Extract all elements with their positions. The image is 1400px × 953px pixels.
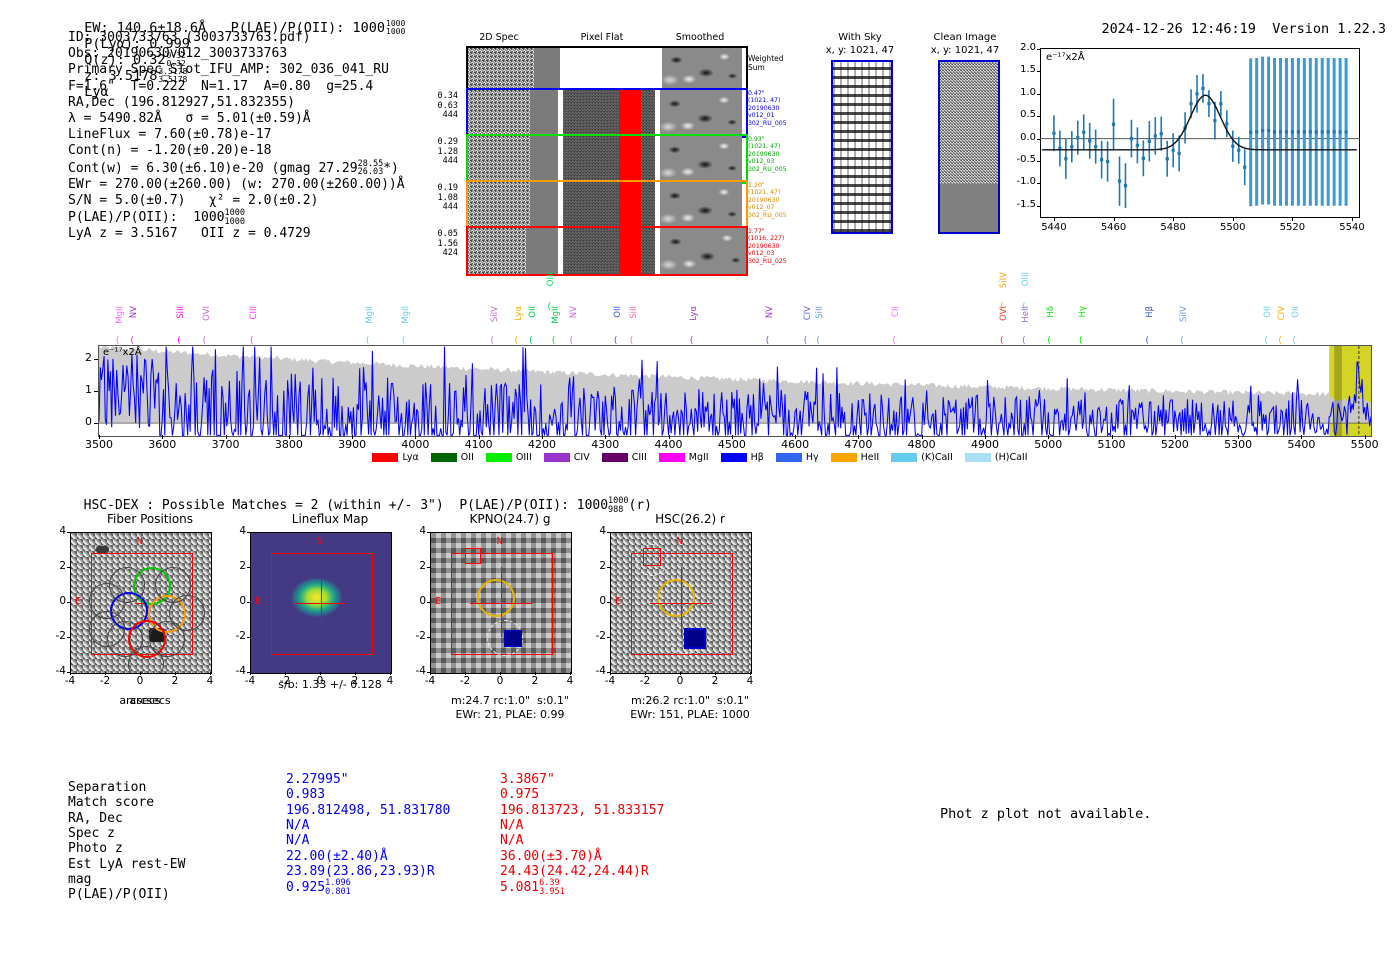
lineflux-ytick: 2.0 — [988, 42, 1036, 53]
legend-item-KCaII: (K)CaII — [891, 452, 953, 463]
info-radec: RA,Dec (196.812927,51.832355) — [68, 95, 405, 111]
lineflux-xtick: 5500 — [1211, 222, 1255, 233]
spectrum-xtick: 4300 — [579, 438, 631, 451]
hsc-match-box-2 — [643, 548, 660, 565]
match-col1-plae-bounds: 1.0960.801 — [325, 879, 351, 896]
legend-swatch — [431, 453, 457, 462]
spectrum-xtick: 4200 — [516, 438, 568, 451]
legend-label: HeII — [861, 452, 880, 463]
compass-north: N — [137, 536, 143, 547]
match-table-label-5: Est LyA rest-EW — [68, 857, 185, 872]
match-table-label-1: Match score — [68, 795, 154, 810]
emission-line-brace: ( — [116, 336, 120, 346]
hsc-caption-2: EWr: 151, PLAE: 1000 — [592, 708, 788, 721]
emission-line-label-MgII: MgII — [401, 306, 411, 324]
legend-item-HeII: HeII — [831, 452, 880, 463]
panel-kpno-g: KPNO(24.7) g N E m:24.7 rc:1.0" s:0.1" E… — [420, 512, 600, 722]
emission-line-brace: ( — [630, 336, 634, 346]
emission-line-brace: ( — [250, 336, 254, 346]
panel-lineflux-map: Lineflux Map N E s/b: 1.33 +/- 0.128 — [240, 512, 420, 722]
cutout-3-xtick: 0 — [666, 675, 694, 687]
emission-line-label-OII: OII — [613, 306, 623, 318]
legend-label: OII — [461, 452, 474, 463]
fiber-row-1-right-labels: 0.93" (1021, 47) 20190630 v012_03 302_RU… — [748, 136, 787, 173]
cutout-1-ytick: 2 — [224, 560, 246, 572]
cutout-2-ytick: 2 — [404, 560, 426, 572]
emission-line-brace: ( — [892, 336, 896, 346]
spectrum-xtick: 4900 — [959, 438, 1011, 451]
spectrum-annotation: e⁻¹⁷x2Å — [103, 347, 142, 358]
emission-line-label-MgII: MgII — [551, 306, 561, 324]
lineflux-fit-plot: e⁻¹⁷x2Å — [1040, 48, 1360, 218]
legend-item-Ly: Lyα — [372, 452, 418, 463]
info-redshifts: LyA z = 3.5167 OII z = 0.4729 — [68, 226, 405, 242]
kpno-caption-2: EWr: 21, PLAE: 0.99 — [412, 708, 608, 721]
info-continuum-wide: Cont(w) = 6.30(±6.10)e-20 (gmag 27.2928.… — [68, 160, 405, 177]
emission-line-label-NV: NV — [129, 306, 139, 318]
info-sn-chi2: S/N = 5.0(±0.7) χ² = 2.0(±0.2) — [68, 193, 405, 209]
gmag-bounds: 28.5526.03 — [358, 160, 384, 177]
match-table-col2-value-2: 196.813723, 51.833157 — [500, 803, 664, 818]
cutout-0-ytick: 2 — [44, 560, 66, 572]
cutout-2-xtick: 4 — [556, 675, 584, 687]
photz-note: Phot z plot not available. — [940, 806, 1151, 822]
cutout-0-xtick: 4 — [196, 675, 224, 687]
emission-line-label-OII: OII — [528, 306, 538, 318]
legend-item-OIII: OIII — [486, 452, 532, 463]
fiber-row-1-left-labels: 0.291.28444 — [420, 138, 458, 167]
fiber-row-2-right-labels: 1.20" (1021, 47) 20190630 v012_07 302_RU… — [748, 182, 787, 219]
cutout-2-xtick: -2 — [451, 675, 479, 687]
cutout-1-ytick: 4 — [224, 525, 246, 537]
cutout-2-xtick: 0 — [486, 675, 514, 687]
lineflux-ytick: 0.5 — [988, 109, 1036, 120]
lineflux-xtick: 5440 — [1032, 222, 1076, 233]
emission-line-brace: ( — [1079, 336, 1083, 346]
cutout-1-xtick: 4 — [376, 675, 404, 687]
legend-item-CIII: CIII — [602, 452, 647, 463]
emission-line-label-MgII: MgII — [115, 306, 125, 324]
emission-line-label-CIII: CIII — [249, 306, 259, 319]
column-header-2dspec: 2D Spec — [446, 32, 552, 43]
lineflux-plot-svg — [1040, 48, 1360, 218]
info-slot: Primary Spec_Slot_IFU_AMP: 302_036_041_R… — [68, 62, 405, 78]
spectrum-xtick: 3500 — [73, 438, 125, 451]
cutout-1-ytick: -2 — [224, 630, 246, 642]
cutout-3-ytick: 2 — [584, 560, 606, 572]
emission-line-label-CIV: CIV — [1277, 306, 1287, 320]
lineflux-ytick: -1.0 — [988, 176, 1036, 187]
lineflux-ytick: -1.5 — [988, 199, 1036, 210]
cutout-0-ytick: -2 — [44, 630, 66, 642]
emission-line-brace: ( — [816, 336, 820, 346]
emission-line-brace: ( — [570, 336, 574, 346]
lineflux-xtick: 5540 — [1330, 222, 1374, 233]
cutout-0-ytick: -4 — [44, 665, 66, 677]
emission-line-label-NV: NV — [569, 306, 579, 318]
match-table-col1-value-3: N/A — [286, 818, 309, 833]
emission-line-brace: ( — [1292, 336, 1296, 346]
legend-label: Hβ — [751, 452, 764, 463]
full-spectrum-svg — [99, 346, 1371, 436]
emission-line-brace: ( — [766, 336, 770, 346]
match-table-label-7: P(LAE)/P(OII) — [68, 887, 170, 902]
cutout-3-ytick: 0 — [584, 595, 606, 607]
legend-swatch — [965, 453, 991, 462]
spectrum-xtick: 5400 — [1275, 438, 1327, 451]
cutout-1-ytick: -4 — [224, 665, 246, 677]
cutout-3-ytick: 4 — [584, 525, 606, 537]
emission-line-label-H: Hγ — [1078, 306, 1088, 317]
legend-swatch — [659, 453, 685, 462]
cutout-3-xtick: -2 — [631, 675, 659, 687]
cutout-1-ytick: 0 — [224, 595, 246, 607]
emission-line-brace: ( — [177, 336, 181, 346]
legend-label: Lyα — [402, 452, 418, 463]
emission-line-brace: ( — [1278, 336, 1282, 346]
emission-line-label-SiII: SiII — [176, 306, 186, 319]
legend-item-CIV: CIV — [544, 452, 590, 463]
spectrum-xtick: 4600 — [769, 438, 821, 451]
emission-line-brace: ( — [690, 336, 694, 346]
legend-swatch — [372, 453, 398, 462]
cutout-3-ytick: -2 — [584, 630, 606, 642]
info-lambda-sigma: λ = 5490.82Å σ = 5.01(±0.59)Å — [68, 111, 405, 127]
match-table-col2-value-4: N/A — [500, 833, 523, 848]
legend-label: CIII — [632, 452, 647, 463]
emission-line-label-SiII: SiII — [815, 306, 825, 319]
lineflux-ytick: 0.0 — [988, 132, 1036, 143]
info-ewr: EWr = 270.00(±260.00) (w: 270.00(±260.00… — [68, 177, 405, 193]
cutout-1-xtick: 0 — [306, 675, 334, 687]
fiber-row-3-right-labels: 1.77" (1016, 227) 20190630 v012_03 302_R… — [748, 228, 787, 265]
fiber-row-2-strip — [466, 180, 748, 230]
spectrum-xtick: 5100 — [1086, 438, 1138, 451]
legend-label: (K)CaII — [921, 452, 953, 463]
compass-north: N — [677, 536, 683, 547]
spectrum-xtick: 4500 — [706, 438, 758, 451]
cutout-2-ytick: -2 — [404, 630, 426, 642]
emission-line-brace: ( — [515, 336, 519, 346]
fiber-row-0-strip — [466, 88, 748, 138]
spectrum-xtick: 3800 — [263, 438, 315, 451]
match-table-col2-value-6: 24.43(24.42,24.44)R — [500, 864, 649, 879]
info-params: F=1.6" T=0.222 N=1.17 A=0.80 g=25.4 — [68, 79, 405, 95]
cutout-0-xtick: -2 — [91, 675, 119, 687]
legend-swatch — [486, 453, 512, 462]
match-table-label-4: Photo z — [68, 841, 123, 856]
emission-line-brace: ( — [529, 336, 533, 346]
weighted-sum-strip — [466, 46, 748, 90]
emission-line-label-SiIV: SiIV — [1179, 306, 1189, 322]
panel-hsc-r: HSC(26.2) r N E m:26.2 rc:1.0" s:0.1" EW… — [600, 512, 780, 722]
detection-info-block: ID: 3003733763 (3003733763.pdf) Obs: 201… — [68, 30, 405, 243]
emission-line-brace: ( — [1000, 302, 1004, 312]
legend-item-OII: OII — [431, 452, 474, 463]
info-plae-bounds: 10001000 — [225, 209, 245, 226]
match-table-label-0: Separation — [68, 780, 146, 795]
spectrum-xtick: 4100 — [453, 438, 505, 451]
column-header-smoothed: Smoothed — [652, 32, 748, 43]
compass-east: E — [435, 596, 441, 607]
emission-line-brace: ( — [614, 336, 618, 346]
emission-line-brace: ( — [804, 336, 808, 346]
kpno-image: N E — [430, 532, 572, 674]
spectrum-xtick: 4800 — [896, 438, 948, 451]
cutout-3-ytick: -4 — [584, 665, 606, 677]
info-plae: P(LAE)/P(OII): 100010001000 — [68, 209, 405, 226]
match-table-label-2: RA, Dec — [68, 811, 123, 826]
emission-line-label-OIII: OIII — [1021, 272, 1031, 286]
lineflux-xtick: 5460 — [1092, 222, 1136, 233]
match-table-col2-value-5: 36.00(±3.70)Å — [500, 849, 602, 864]
legend-item-HCaII: (H)CaII — [965, 452, 1028, 463]
match-table-label-3: Spec z — [68, 826, 115, 841]
legend-swatch — [776, 453, 802, 462]
fiber-positions-axis-label: arcsecs — [60, 694, 220, 707]
spectrum-ytick: 2 — [62, 351, 92, 364]
fiber-positions-title: Fiber Positions — [60, 512, 240, 526]
spectrum-xtick: 3600 — [136, 438, 188, 451]
emission-line-label-CIV: CIV — [803, 306, 813, 320]
match-table-col2-value-0: 3.3867" — [500, 772, 555, 787]
cutout-3-xtick: 4 — [736, 675, 764, 687]
match-table-col1-value-4: N/A — [286, 833, 309, 848]
emission-line-label-SiII: SiII — [629, 306, 639, 319]
timestamp: 2024-12-26 12:46:19 — [1102, 21, 1256, 37]
full-spectrum-plot: e⁻¹⁷x2Å — [98, 345, 1372, 437]
fiber-row-1-strip — [466, 134, 748, 184]
column-header-pixelflat: Pixel Flat — [552, 32, 652, 43]
spectrum-xtick: 4700 — [832, 438, 884, 451]
cutout-0-ytick: 0 — [44, 595, 66, 607]
emission-line-label-Ly: Lyα — [514, 306, 524, 321]
lineflux-ytick: 1.0 — [988, 87, 1036, 98]
spectrum-xtick: 3700 — [200, 438, 252, 451]
version: Version 1.22.3 — [1272, 21, 1386, 37]
emission-line-label-MgII: MgII — [365, 306, 375, 324]
legend-swatch — [602, 453, 628, 462]
kpno-match-box-1 — [504, 630, 522, 647]
info-continuum-narrow: Cont(n) = -1.20(±0.20)e-18 — [68, 143, 405, 159]
match-table-col1-value-7: 0.9251.0960.801 — [286, 879, 351, 896]
lineflux-ytick: 1.5 — [988, 64, 1036, 75]
cutout-0-xtick: 2 — [161, 675, 189, 687]
emission-line-brace: ( — [1047, 336, 1051, 346]
kpno-caption-1: m:24.7 rc:1.0" s:0.1" — [412, 694, 608, 707]
emission-line-brace: ( — [402, 336, 406, 346]
emission-line-label-OII: OII — [1263, 306, 1273, 318]
legend-swatch — [891, 453, 917, 462]
match-table-col2-value-7: 5.0816.393.951 — [500, 879, 565, 896]
match-table-label-6: mag — [68, 872, 91, 887]
emission-line-brace: ( — [547, 302, 551, 312]
legend-label: MgII — [689, 452, 709, 463]
emission-line-label-CII: CII — [891, 306, 901, 317]
legend-item-MgII: MgII — [659, 452, 709, 463]
compass-north: N — [317, 536, 323, 547]
spectrum-xtick: 5000 — [1022, 438, 1074, 451]
cutout-0-ytick: 4 — [44, 525, 66, 537]
fiber-row-0-left-labels: 0.340.63444 — [420, 92, 458, 121]
emission-line-brace: ( — [1180, 336, 1184, 346]
spectrum-legend: LyαOIIOIIICIVCIIIMgIIHβHγHeII(K)CaII(H)C… — [0, 452, 1400, 463]
match-table-col1-value-2: 196.812498, 51.831780 — [286, 803, 450, 818]
spectrum-xtick: 3900 — [326, 438, 378, 451]
emission-line-label-H: Hβ — [1145, 306, 1155, 318]
match-col2-plae-bounds: 6.393.951 — [539, 879, 565, 896]
legend-label: OIII — [516, 452, 532, 463]
emission-line-brace: ( — [366, 336, 370, 346]
cutout-0-xtick: 0 — [126, 675, 154, 687]
fiber-row-3-left-labels: 0.051.56424 — [420, 230, 458, 259]
match-table-col2-value-3: N/A — [500, 818, 523, 833]
weighted-sum-label: Weighted Sum — [748, 54, 784, 72]
emission-line-brace: ( — [491, 336, 495, 346]
compass-north: N — [497, 536, 503, 547]
fiber-positions-image: N E — [70, 532, 212, 674]
compass-east: E — [75, 596, 81, 607]
panel-fiber-positions: Fiber Positions N E arcsecs — [60, 512, 240, 722]
emission-line-label-OVI: OVI — [202, 306, 212, 321]
spectrum-xtick: 5200 — [1149, 438, 1201, 451]
match-table-col1-value-0: 2.27995" — [286, 772, 349, 787]
spectrum-ytick: 1 — [62, 383, 92, 396]
emission-line-brace: ( — [1000, 336, 1004, 346]
spec2d-panel: 2D Spec Pixel Flat Smoothed Weighted Sum… — [430, 32, 770, 267]
emission-line-label-H: Hδ — [1046, 306, 1056, 318]
emission-line-brace: ( — [1022, 302, 1026, 312]
hsc-match-box-1 — [684, 628, 706, 649]
with-sky-image — [831, 60, 893, 234]
legend-item-H: Hβ — [721, 452, 764, 463]
match-table-col1-value-6: 23.89(23.86,23.93)R — [286, 864, 435, 879]
lineflux-ytick: -0.5 — [988, 154, 1036, 165]
cutout-2-ytick: -4 — [404, 665, 426, 677]
emission-line-brace: ( — [1264, 336, 1268, 346]
cutout-3-xtick: 2 — [701, 675, 729, 687]
legend-swatch — [721, 453, 747, 462]
compass-east: E — [255, 596, 261, 607]
spectrum-xtick: 5500 — [1339, 438, 1391, 451]
hsc-image: N E — [610, 532, 752, 674]
cutout-2-xtick: 2 — [521, 675, 549, 687]
header-timestamp-version: 2024-12-26 12:46:19 Version 1.22.3 — [1085, 5, 1386, 37]
emission-line-brace: ( — [203, 336, 207, 346]
emission-line-label-SiIV: SiIV — [490, 306, 500, 322]
legend-label: CIV — [574, 452, 590, 463]
emission-line-label-SiIV: SiIV — [999, 272, 1009, 288]
emission-line-label-OII: OII — [1291, 306, 1301, 318]
emission-line-brace: ( — [552, 336, 556, 346]
lineflux-xtick: 5520 — [1270, 222, 1314, 233]
with-sky-subtitle: x, y: 1021, 47 — [800, 45, 920, 56]
spectrum-ytick: 0 — [62, 415, 92, 428]
cutout-2-ytick: 0 — [404, 595, 426, 607]
kpno-match-box-2 — [465, 548, 481, 564]
legend-swatch — [544, 453, 570, 462]
with-sky-title: With Sky — [800, 32, 920, 43]
legend-label: Hγ — [806, 452, 819, 463]
match-table-col2-value-1: 0.975 — [500, 787, 539, 802]
info-id: ID: 3003733763 (3003733763.pdf) — [68, 30, 405, 46]
cutout-1-xtick: 2 — [341, 675, 369, 687]
hscdex-headline: HSC-DEX : Possible Matches = 2 (within +… — [68, 482, 652, 514]
spectrum-xtick: 4000 — [389, 438, 441, 451]
emission-line-label-OIII: OIII — [546, 272, 556, 286]
spectrum-xtick: 4400 — [643, 438, 695, 451]
lineflux-map-title: Lineflux Map — [240, 512, 420, 526]
fiber-row-3-strip — [466, 226, 748, 276]
spectrum-xtick: 5300 — [1212, 438, 1264, 451]
emission-line-label-Ly: Lyα — [689, 306, 699, 321]
match-table-col1-value-1: 0.983 — [286, 787, 325, 802]
emission-line-brace: ( — [1146, 336, 1150, 346]
cutout-2-ytick: 4 — [404, 525, 426, 537]
match-table-col1-value-5: 22.00(±2.40)Å — [286, 849, 388, 864]
emission-line-brace: ( — [130, 336, 134, 346]
emission-line-label-NV: NV — [765, 306, 775, 318]
legend-item-H: Hγ — [776, 452, 819, 463]
info-obs: Obs: 20190630v012_3003733763 — [68, 46, 405, 62]
emission-line-brace: ( — [1022, 336, 1026, 346]
hsc-title: HSC(26.2) r — [600, 512, 780, 526]
fiber-row-0-right-labels: 0.47" (1021, 47) 20190630 v012_01 302_RU… — [748, 90, 787, 127]
fiber-row-2-left-labels: 0.191.08444 — [420, 184, 458, 213]
kpno-title: KPNO(24.7) g — [420, 512, 600, 526]
lineflux-xtick: 5480 — [1151, 222, 1195, 233]
legend-label: (H)CaII — [995, 452, 1028, 463]
lineflux-map-image: N E — [250, 532, 392, 674]
legend-swatch — [831, 453, 857, 462]
hsc-caption-1: m:26.2 rc:1.0" s:0.1" — [592, 694, 788, 707]
cutout-1-xtick: -2 — [271, 675, 299, 687]
compass-east: E — [615, 596, 621, 607]
info-lineflux: LineFlux = 7.60(±0.78)e-17 — [68, 127, 405, 143]
